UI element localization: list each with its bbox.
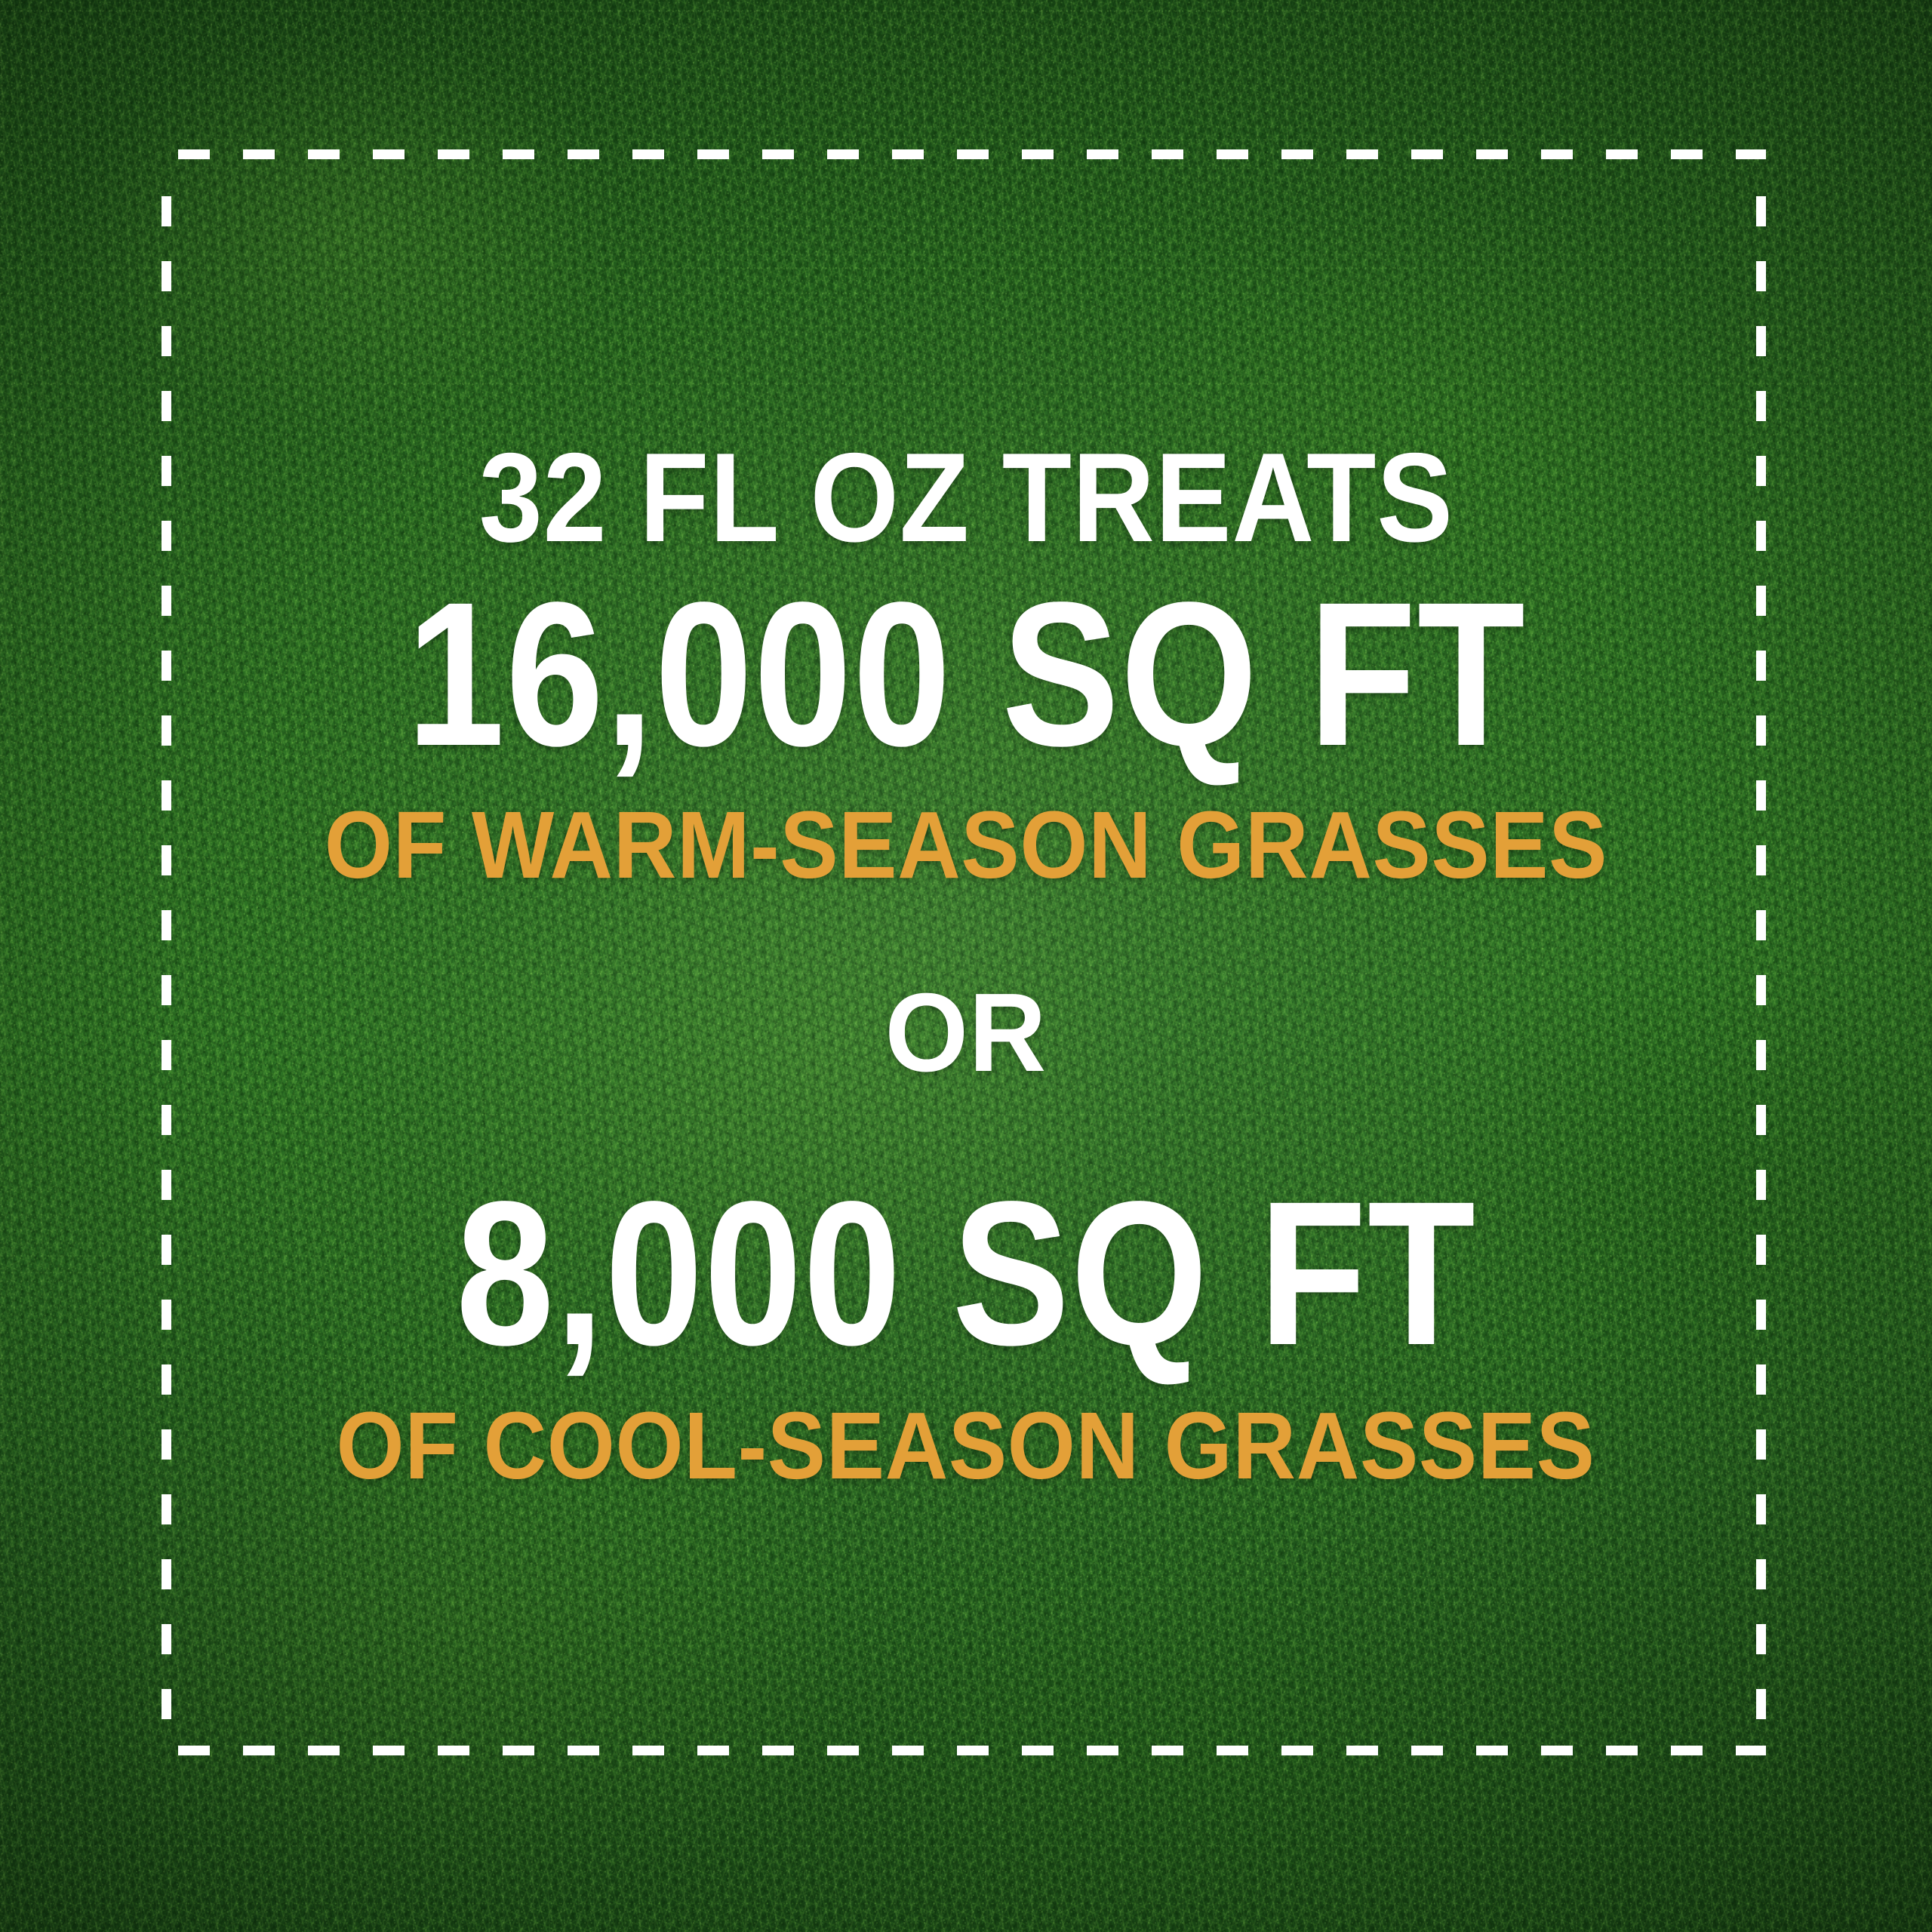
warm-season-coverage-value: 16,000 SQ FT bbox=[0, 571, 1932, 777]
headline-text: 32 FL OZ TREATS bbox=[478, 434, 1453, 561]
or-separator: OR bbox=[0, 977, 1932, 1089]
cool-season-coverage-text: 8,000 SQ FT bbox=[456, 1171, 1476, 1376]
cool-season-coverage-value: 8,000 SQ FT bbox=[0, 1171, 1932, 1376]
warm-season-qualifier-text: OF WARM-SEASON GRASSES bbox=[325, 798, 1607, 893]
warm-season-coverage-text: 16,000 SQ FT bbox=[406, 571, 1525, 777]
cool-season-qualifier: OF COOL-SEASON GRASSES bbox=[0, 1398, 1932, 1494]
warm-season-qualifier: OF WARM-SEASON GRASSES bbox=[0, 798, 1932, 893]
cool-season-qualifier-text: OF COOL-SEASON GRASSES bbox=[337, 1398, 1595, 1494]
coverage-message-block: 32 FL OZ TREATS 16,000 SQ FT OF WARM-SEA… bbox=[0, 0, 1932, 1932]
headline-volume-treats: 32 FL OZ TREATS bbox=[0, 434, 1932, 561]
infographic-canvas: 32 FL OZ TREATS 16,000 SQ FT OF WARM-SEA… bbox=[0, 0, 1932, 1932]
or-separator-text: OR bbox=[885, 977, 1048, 1089]
